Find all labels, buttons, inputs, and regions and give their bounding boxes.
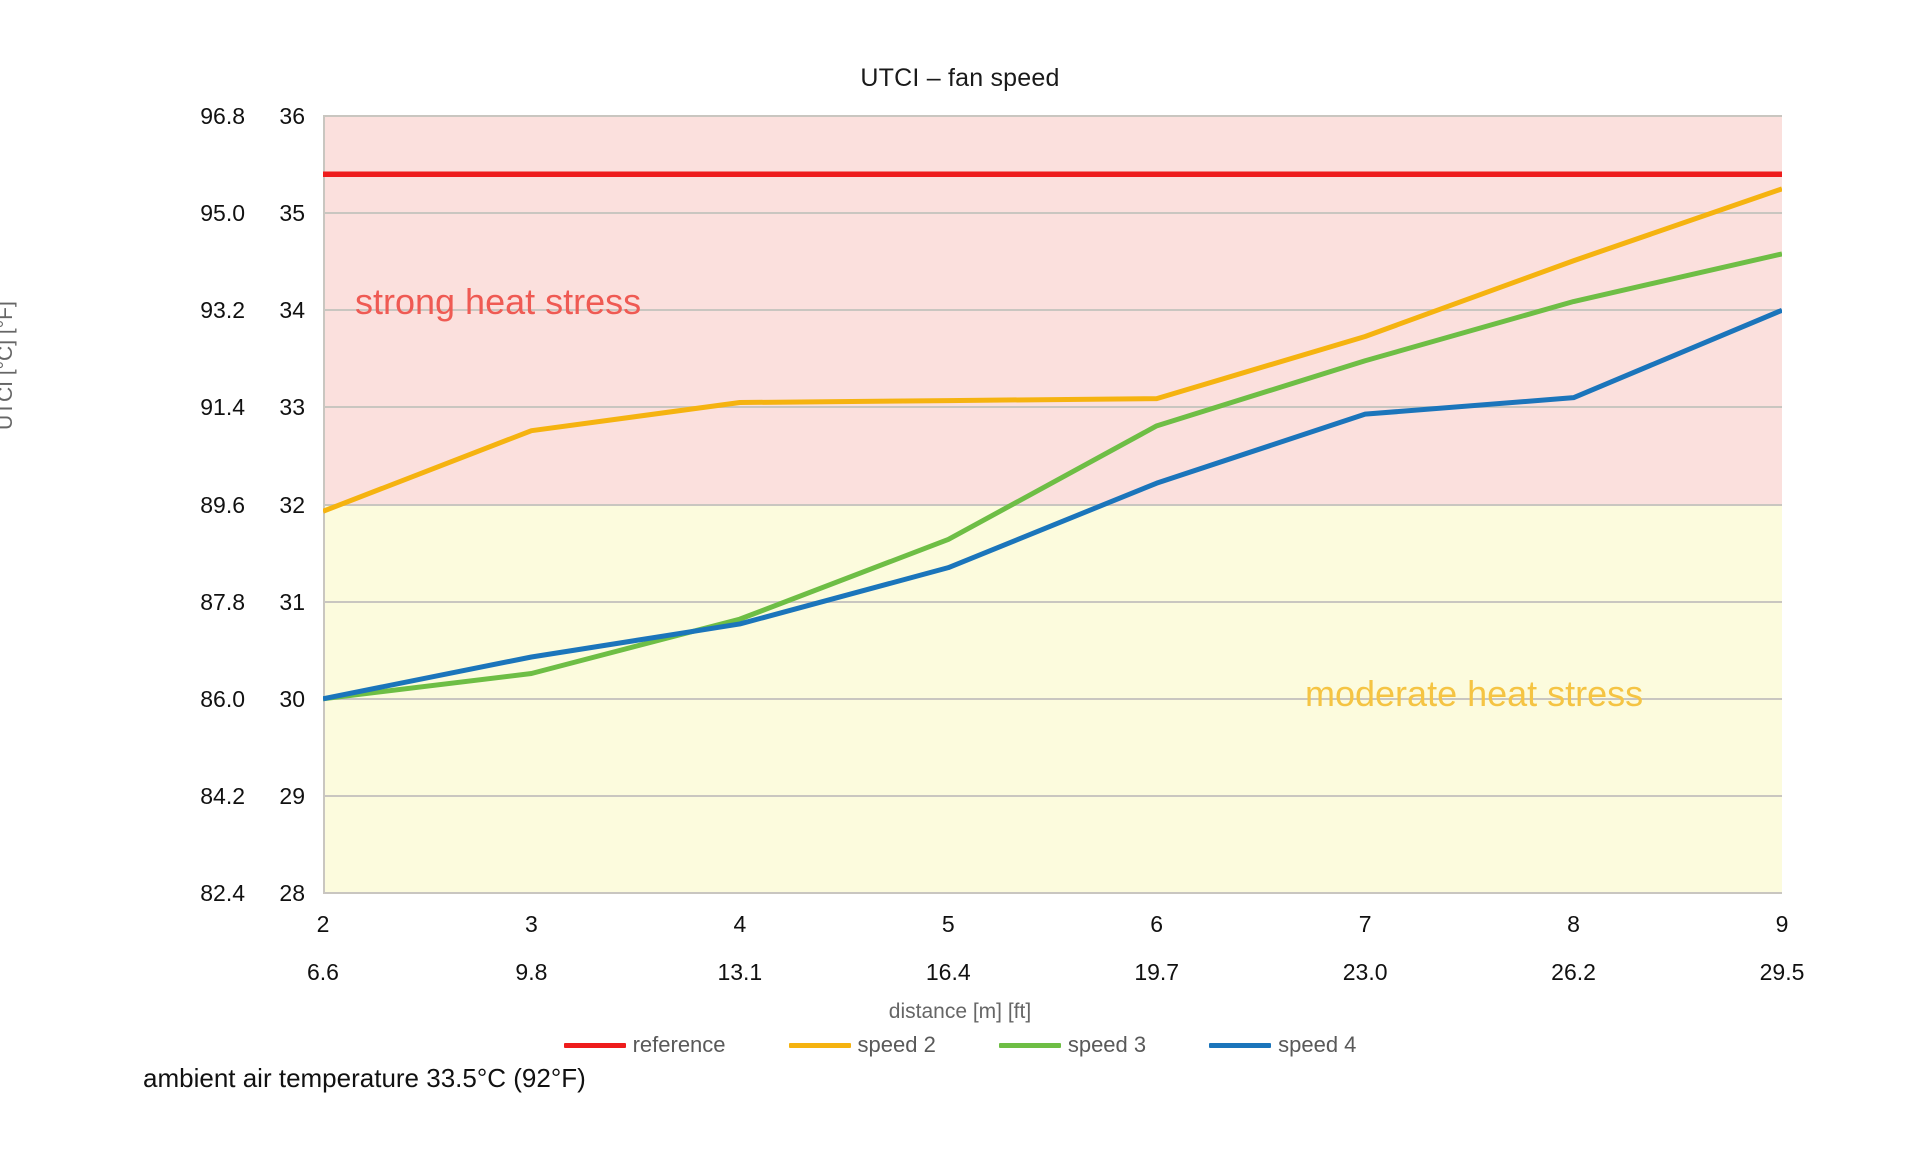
x-axis-tick: 39.8	[471, 911, 591, 986]
y-tick-label-c: 34	[259, 295, 305, 325]
y-tick-label-f: 87.8	[135, 587, 245, 617]
legend-item-speed-4[interactable]: speed 4	[1209, 1032, 1356, 1058]
legend-label: reference	[633, 1032, 726, 1058]
series-lines	[323, 116, 1782, 893]
x-tick-label-m: 8	[1514, 911, 1634, 938]
x-tick-label-ft: 23.0	[1305, 959, 1425, 986]
y-tick-label-c: 33	[259, 392, 305, 422]
legend-color-swatch	[564, 1043, 626, 1048]
x-tick-label-ft: 19.7	[1097, 959, 1217, 986]
y-axis-title: UTCI [°C] [°F]	[0, 301, 18, 430]
legend-item-reference[interactable]: reference	[564, 1032, 726, 1058]
y-tick-label-c: 28	[259, 878, 305, 908]
x-axis-tick: 516.4	[888, 911, 1008, 986]
y-axis-tick: 91.433	[0, 392, 323, 422]
y-tick-label-c: 32	[259, 490, 305, 520]
legend-label: speed 3	[1068, 1032, 1146, 1058]
y-axis-tick: 89.632	[0, 490, 323, 520]
y-tick-label-f: 91.4	[135, 392, 245, 422]
y-axis-tick: 87.831	[0, 587, 323, 617]
ambient-temperature-caption: ambient air temperature 33.5°C (92°F)	[143, 1063, 586, 1094]
legend: referencespeed 2speed 3speed 4	[0, 1032, 1920, 1058]
legend-color-swatch	[1209, 1043, 1271, 1048]
y-axis-tick: 93.234	[0, 295, 323, 325]
x-tick-label-ft: 29.5	[1722, 959, 1842, 986]
y-tick-label-f: 89.6	[135, 490, 245, 520]
x-tick-label-ft: 6.6	[263, 959, 383, 986]
legend-item-speed-3[interactable]: speed 3	[999, 1032, 1146, 1058]
x-tick-label-ft: 26.2	[1514, 959, 1634, 986]
x-tick-label-m: 2	[263, 911, 383, 938]
band-label-moderate: moderate heat stress	[1305, 673, 1643, 715]
x-axis-tick: 929.5	[1722, 911, 1842, 986]
x-tick-label-m: 4	[680, 911, 800, 938]
y-tick-label-f: 82.4	[135, 878, 245, 908]
y-tick-label-c: 30	[259, 684, 305, 714]
x-axis-tick: 826.2	[1514, 911, 1634, 986]
x-axis-tick: 413.1	[680, 911, 800, 986]
x-tick-label-m: 9	[1722, 911, 1842, 938]
y-axis-tick: 95.035	[0, 198, 323, 228]
x-axis-tick: 26.6	[263, 911, 383, 986]
legend-label: speed 2	[858, 1032, 936, 1058]
x-tick-label-ft: 16.4	[888, 959, 1008, 986]
y-axis-tick: 84.229	[0, 781, 323, 811]
legend-label: speed 4	[1278, 1032, 1356, 1058]
y-tick-label-c: 31	[259, 587, 305, 617]
series-line-speed-2	[323, 189, 1782, 511]
y-tick-label-f: 86.0	[135, 684, 245, 714]
legend-color-swatch	[999, 1043, 1061, 1048]
x-tick-label-m: 5	[888, 911, 1008, 938]
x-tick-label-m: 3	[471, 911, 591, 938]
y-tick-label-f: 96.8	[135, 101, 245, 131]
x-axis-tick: 723.0	[1305, 911, 1425, 986]
band-label-strong: strong heat stress	[355, 281, 641, 323]
y-axis-tick: 86.030	[0, 684, 323, 714]
y-tick-label-f: 93.2	[135, 295, 245, 325]
legend-color-swatch	[789, 1043, 851, 1048]
y-tick-label-f: 95.0	[135, 198, 245, 228]
x-axis-tick: 619.7	[1097, 911, 1217, 986]
chart-title: UTCI – fan speed	[0, 64, 1920, 93]
x-tick-label-m: 6	[1097, 911, 1217, 938]
x-tick-label-ft: 9.8	[471, 959, 591, 986]
series-line-speed-4	[323, 310, 1782, 699]
y-axis-tick: 96.836	[0, 101, 323, 131]
x-tick-label-ft: 13.1	[680, 959, 800, 986]
y-tick-label-c: 29	[259, 781, 305, 811]
legend-item-speed-2[interactable]: speed 2	[789, 1032, 936, 1058]
plot-area	[323, 116, 1782, 893]
y-tick-label-f: 84.2	[135, 781, 245, 811]
y-axis-tick: 82.428	[0, 878, 323, 908]
chart-page: UTCI – fan speed strong heat stress mode…	[0, 0, 1920, 1164]
x-axis-title: distance [m] [ft]	[0, 1000, 1920, 1024]
y-tick-label-c: 36	[259, 101, 305, 131]
x-tick-label-m: 7	[1305, 911, 1425, 938]
y-tick-label-c: 35	[259, 198, 305, 228]
